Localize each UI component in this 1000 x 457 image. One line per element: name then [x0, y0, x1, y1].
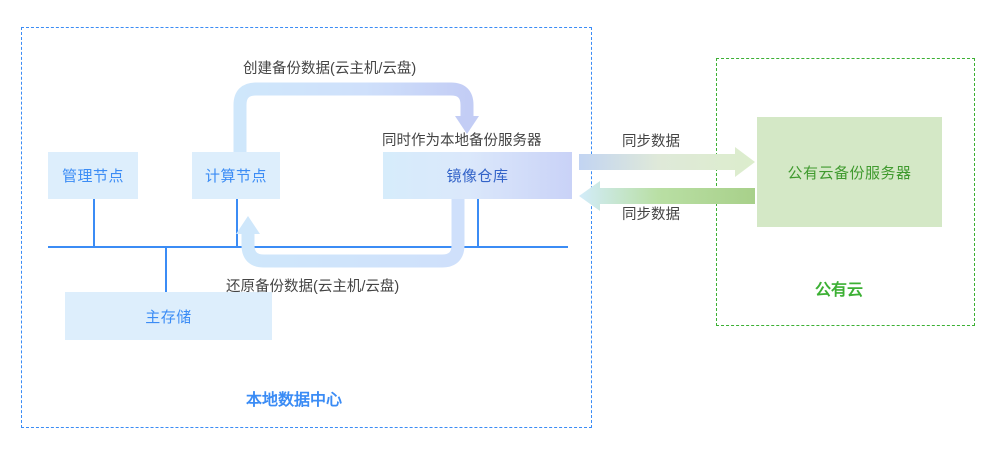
connector-bus-to-primary-storage [165, 246, 167, 293]
diagram-canvas: 管理节点 计算节点 镜像仓库 主存储 公有云备份服务器 创建备份数据(云主机/云… [0, 0, 1000, 457]
label-restore-backup: 还原备份数据(云主机/云盘) [226, 275, 399, 296]
node-primary-storage[interactable]: 主存储 [65, 292, 272, 340]
label-sync-outbound: 同步数据 [622, 130, 680, 151]
connector-management-to-bus [93, 199, 95, 247]
label-create-backup: 创建备份数据(云主机/云盘) [243, 57, 416, 78]
label-sync-inbound: 同步数据 [622, 203, 680, 224]
label-public-cloud: 公有云 [815, 276, 863, 300]
node-image-repository[interactable]: 镜像仓库 [383, 152, 572, 199]
node-cloud-backup-server[interactable]: 公有云备份服务器 [757, 117, 942, 227]
node-compute[interactable]: 计算节点 [192, 152, 280, 199]
label-repository-note: 同时作为本地备份服务器 [382, 129, 542, 150]
node-management[interactable]: 管理节点 [48, 152, 138, 199]
connector-repository-to-bus [477, 199, 479, 247]
storage-bus-line [48, 246, 568, 248]
connector-compute-to-bus [236, 199, 238, 247]
local-datacenter-zone [21, 27, 592, 428]
label-local-datacenter: 本地数据中心 [246, 386, 342, 410]
